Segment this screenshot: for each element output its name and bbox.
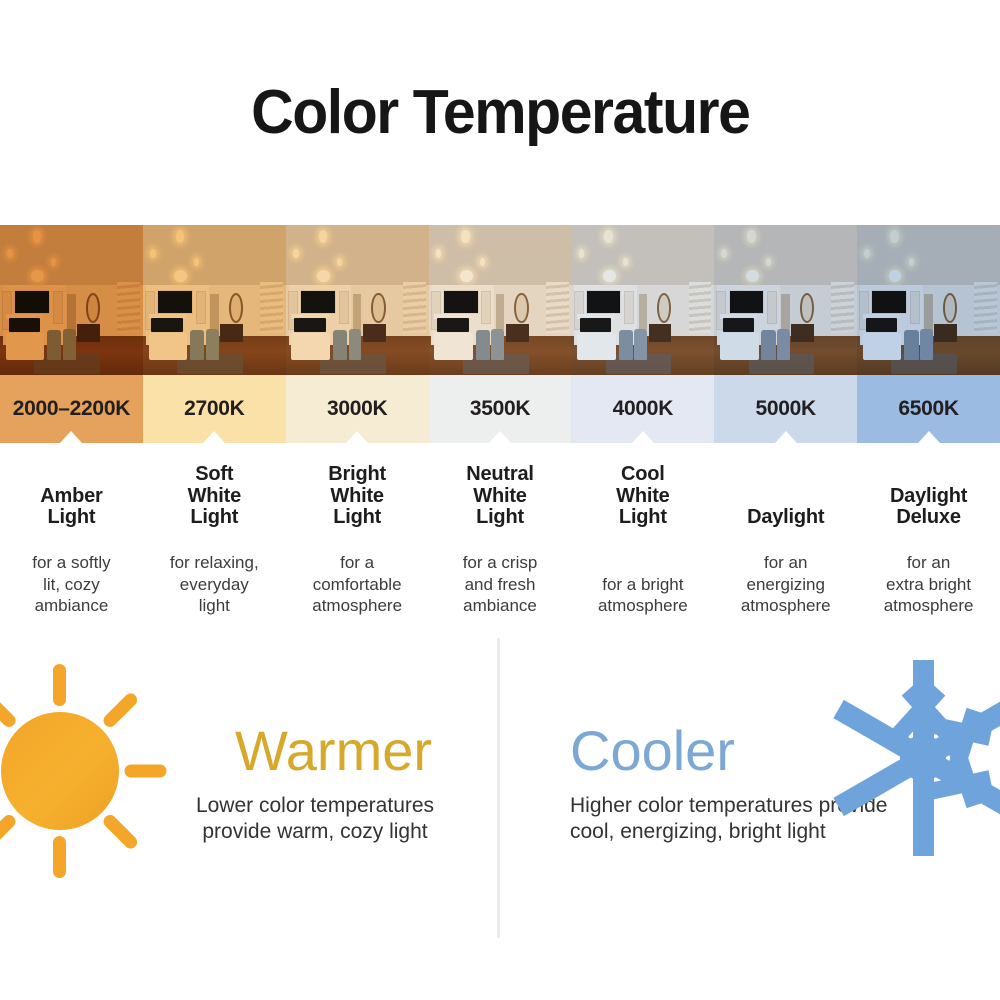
living-room-2000k xyxy=(0,225,143,375)
kelvin-band[interactable]: 3500K xyxy=(429,375,572,443)
temperature-tint xyxy=(857,225,1000,375)
living-room-2700k xyxy=(143,225,286,375)
kelvin-band[interactable]: 5000K xyxy=(714,375,857,443)
label-column: AmberLight for a softlylit, cozyambiance xyxy=(0,453,143,623)
name-box: DaylightDeluxe xyxy=(863,453,994,529)
temperature-tint xyxy=(286,225,429,375)
living-room-5000k xyxy=(714,225,857,375)
band-notch-icon xyxy=(346,431,368,443)
description-box: for a crispand freshambiance xyxy=(435,529,566,621)
sun-ray xyxy=(0,690,18,729)
label-column: BrightWhiteLight for acomfortableatmosph… xyxy=(286,453,429,623)
description-box: for anextra brightatmosphere xyxy=(863,529,994,621)
temperature-tint xyxy=(571,225,714,375)
living-room-3000k xyxy=(286,225,429,375)
sun-ray xyxy=(101,812,140,851)
label-column: SoftWhiteLight for relaxing,everydayligh… xyxy=(143,453,286,623)
band-notch-icon xyxy=(918,431,940,443)
cooler-half: Cooler Higher color temperatures provide… xyxy=(500,623,1000,998)
name-box: SoftWhiteLight xyxy=(149,453,280,529)
description-box: for relaxing,everydaylight xyxy=(149,529,280,621)
sun-core xyxy=(1,712,119,830)
sun-ray xyxy=(53,836,66,878)
light-description: for acomfortableatmosphere xyxy=(312,552,402,617)
name-box: CoolWhiteLight xyxy=(577,453,708,529)
temperature-tint xyxy=(143,225,286,375)
snowflake-icon xyxy=(808,643,1000,873)
kelvin-label: 6500K xyxy=(898,397,958,421)
label-column: CoolWhiteLight for a brightatmosphere xyxy=(571,453,714,623)
sun-ray xyxy=(53,664,66,706)
light-name: NeutralWhiteLight xyxy=(466,464,534,529)
page-title: Color Temperature xyxy=(251,77,749,148)
living-room-3500k xyxy=(429,225,572,375)
snowflake-core xyxy=(900,735,946,781)
label-column: Daylight for anenergizingatmosphere xyxy=(714,453,857,623)
sun-icon xyxy=(0,653,177,888)
light-description: for anenergizingatmosphere xyxy=(741,552,831,617)
kelvin-label: 2700K xyxy=(184,397,244,421)
sun-ray xyxy=(125,764,167,777)
light-name: DaylightDeluxe xyxy=(890,486,967,529)
label-row: AmberLight for a softlylit, cozyambiance… xyxy=(0,443,1000,623)
title-section: Color Temperature xyxy=(0,0,1000,225)
band-notch-icon xyxy=(60,431,82,443)
sun-ray xyxy=(101,690,140,729)
warmer-cooler-section: Warmer Lower color temperatures provide … xyxy=(0,623,1000,998)
light-name: BrightWhiteLight xyxy=(328,464,386,529)
description-box: for anenergizingatmosphere xyxy=(720,529,851,621)
label-column: NeutralWhiteLight for a crispand fresham… xyxy=(429,453,572,623)
band-notch-icon xyxy=(489,431,511,443)
band-notch-icon xyxy=(203,431,225,443)
warmer-heading: Warmer xyxy=(235,718,432,783)
temperature-tint xyxy=(429,225,572,375)
description-box: for a brightatmosphere xyxy=(577,529,708,621)
name-box: AmberLight xyxy=(6,453,137,529)
kelvin-band[interactable]: 3000K xyxy=(286,375,429,443)
description-box: for a softlylit, cozyambiance xyxy=(6,529,137,621)
kelvin-band[interactable]: 2000–2200K xyxy=(0,375,143,443)
kelvin-band-row: 2000–2200K 2700K 3000K 3500K 4000K 5000K… xyxy=(0,375,1000,443)
light-name: Daylight xyxy=(747,507,824,529)
temperature-tint xyxy=(714,225,857,375)
name-box: Daylight xyxy=(720,453,851,529)
light-description: for a brightatmosphere xyxy=(598,574,688,618)
kelvin-band[interactable]: 6500K xyxy=(857,375,1000,443)
room-photo-strip xyxy=(0,225,1000,375)
light-name: CoolWhiteLight xyxy=(616,464,669,529)
kelvin-label: 3000K xyxy=(327,397,387,421)
light-name: AmberLight xyxy=(40,486,102,529)
description-box: for acomfortableatmosphere xyxy=(292,529,423,621)
light-description: for a crispand freshambiance xyxy=(463,552,538,617)
band-notch-icon xyxy=(632,431,654,443)
kelvin-band[interactable]: 2700K xyxy=(143,375,286,443)
name-box: BrightWhiteLight xyxy=(292,453,423,529)
name-box: NeutralWhiteLight xyxy=(435,453,566,529)
living-room-4000k xyxy=(571,225,714,375)
sun-ray xyxy=(0,812,18,851)
temperature-tint xyxy=(0,225,143,375)
label-column: DaylightDeluxe for anextra brightatmosph… xyxy=(857,453,1000,623)
warmer-half: Warmer Lower color temperatures provide … xyxy=(0,623,497,998)
kelvin-label: 2000–2200K xyxy=(13,397,130,421)
cooler-heading: Cooler xyxy=(570,718,735,783)
band-notch-icon xyxy=(775,431,797,443)
kelvin-label: 4000K xyxy=(613,397,673,421)
kelvin-band[interactable]: 4000K xyxy=(571,375,714,443)
light-name: SoftWhiteLight xyxy=(188,464,241,529)
light-description: for anextra brightatmosphere xyxy=(884,552,974,617)
kelvin-label: 3500K xyxy=(470,397,530,421)
warmer-description: Lower color temperatures provide warm, c… xyxy=(165,793,465,846)
light-description: for relaxing,everydaylight xyxy=(170,552,259,617)
light-description: for a softlylit, cozyambiance xyxy=(32,552,110,617)
living-room-6500k xyxy=(857,225,1000,375)
kelvin-label: 5000K xyxy=(756,397,816,421)
